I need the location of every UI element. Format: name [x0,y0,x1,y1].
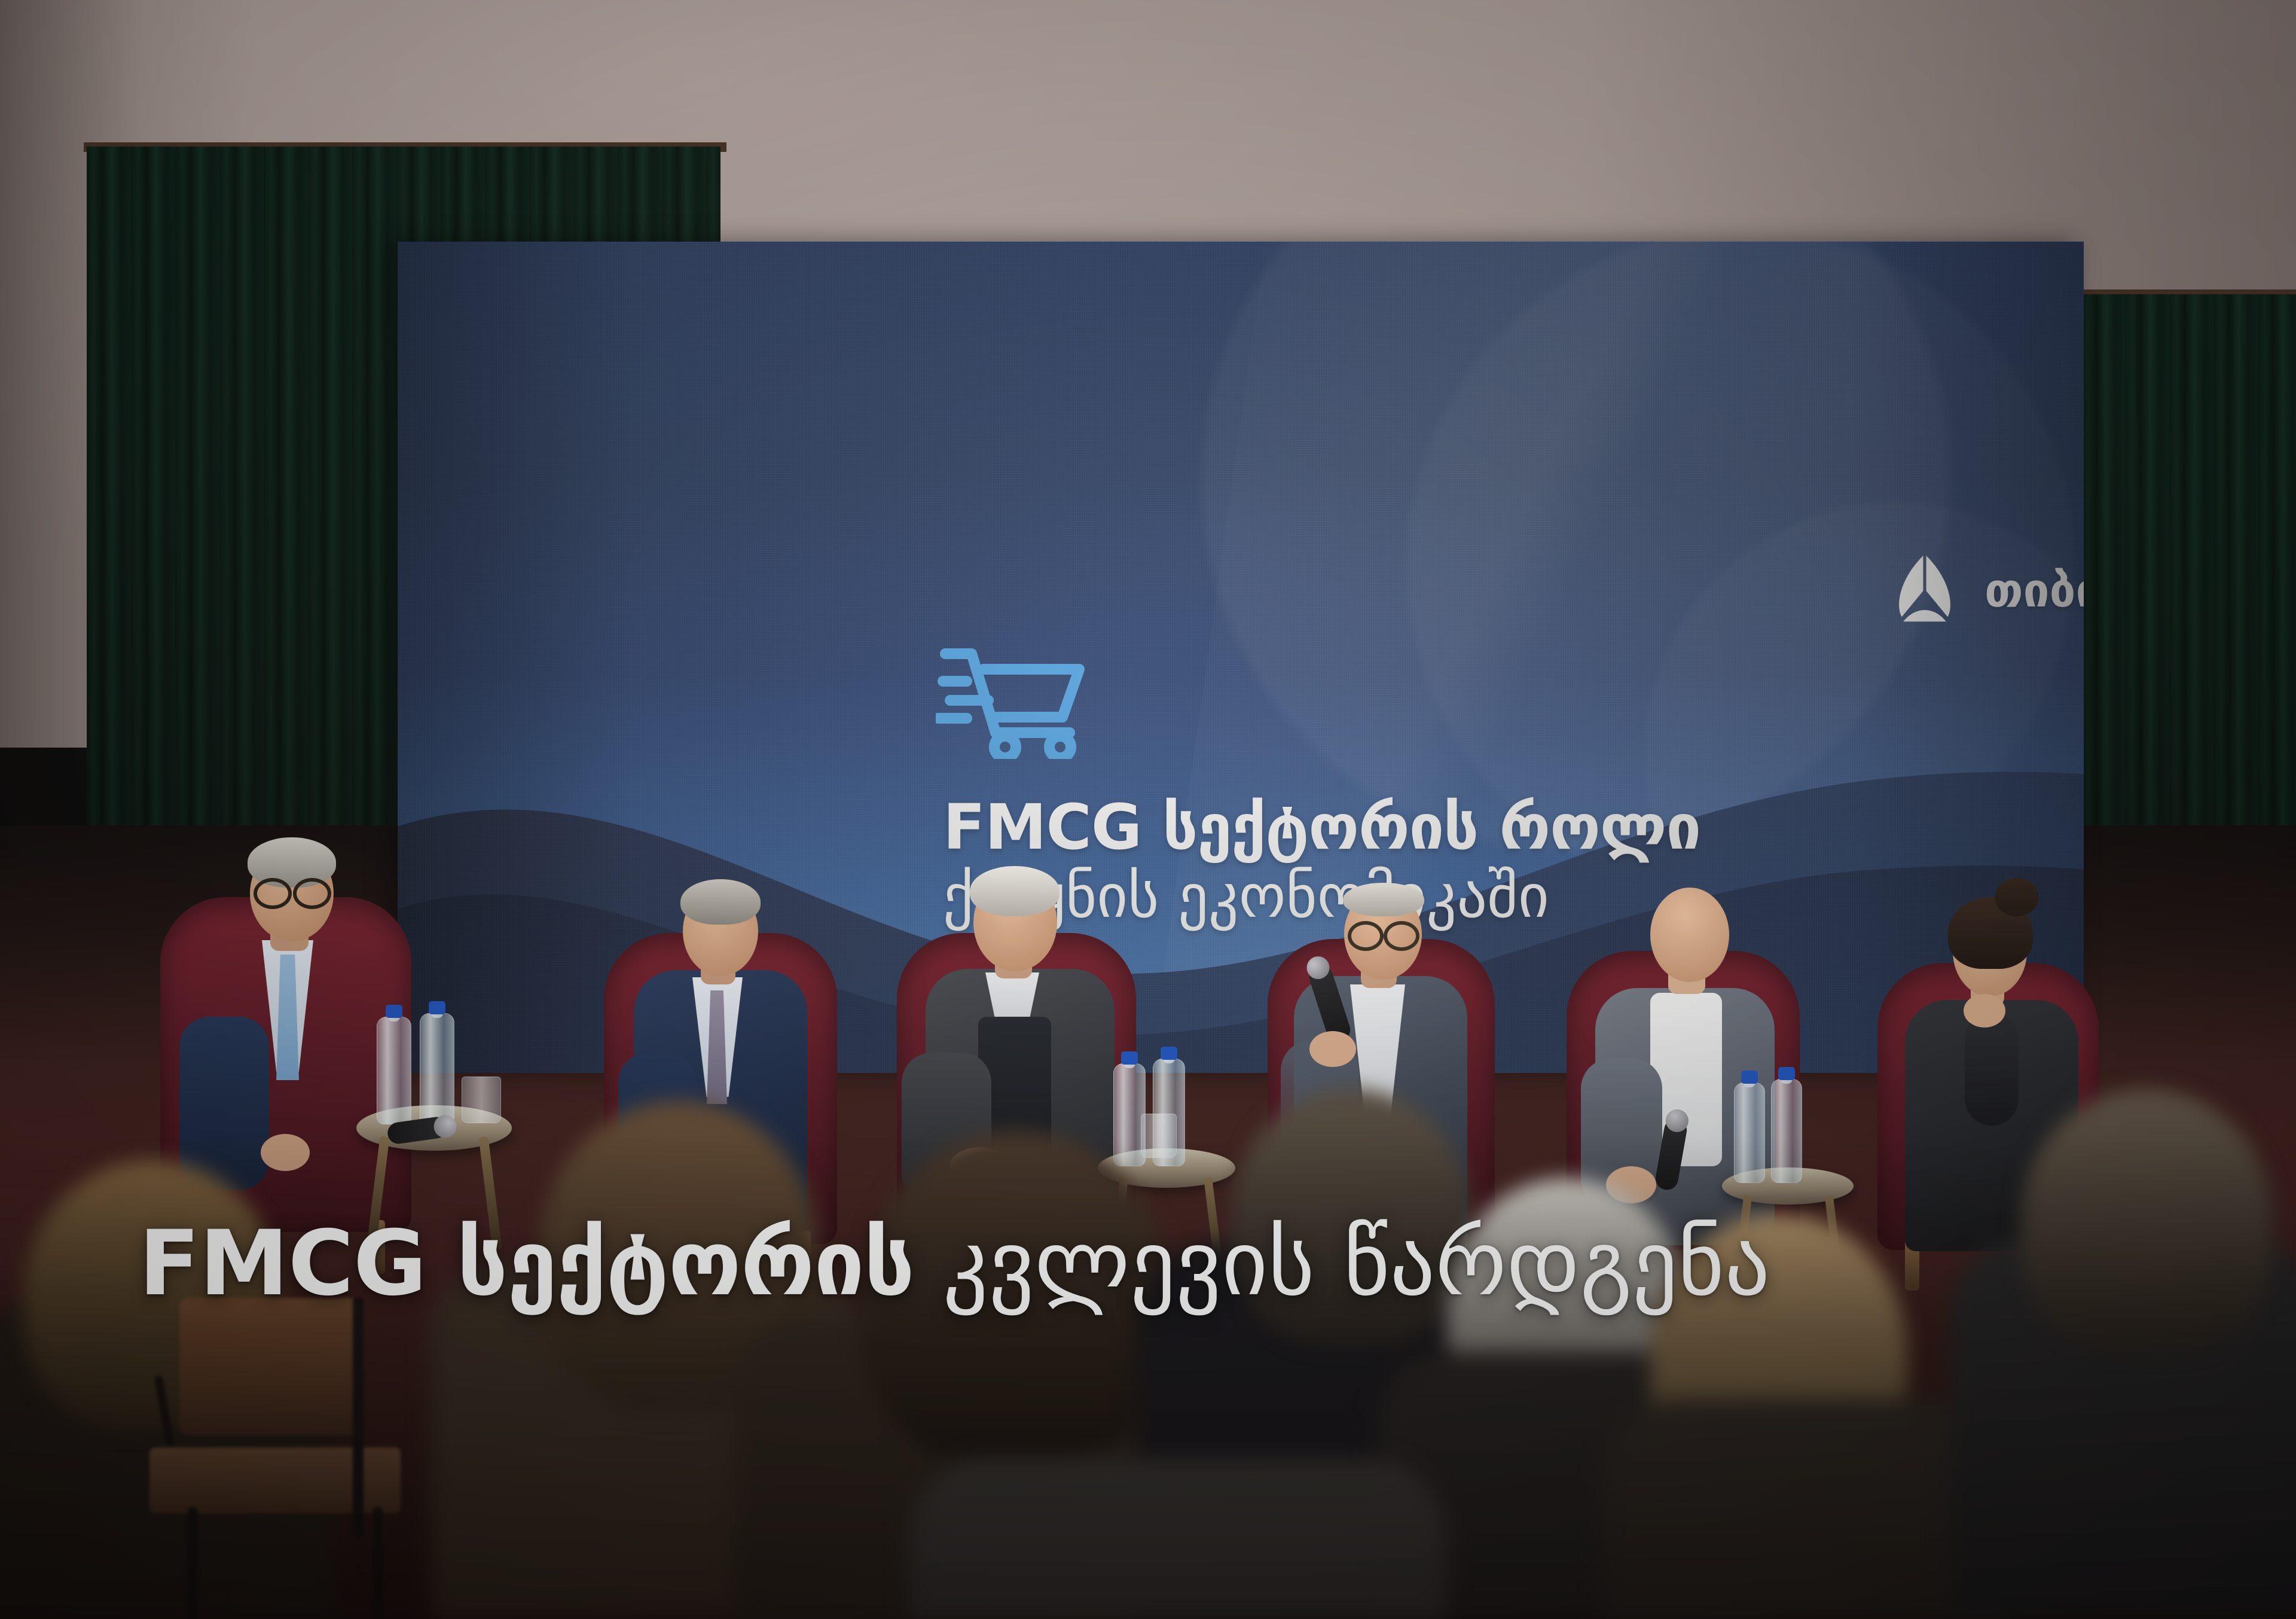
tbc-triangle-logo-icon [1886,553,1963,629]
brand-logo-text: თიბისი კაპიტალი [1984,564,2084,618]
caption-light-part: კვლევის წარდგენა [914,1212,1770,1316]
shopping-cart-icon [936,633,1091,759]
bottom-caption: FMCG სექტორის კვლევის წარდგენა [139,1219,1770,1309]
banner-title: FMCG სექტორის როლი [943,795,1700,860]
screenshot-root: FMCG სექტორის როლი ქვეყნის ეკონომიკაში თ… [0,0,2296,1619]
caption-bold-part: FMCG სექტორის [139,1212,914,1316]
brand-logo: თიბისი კაპიტალი [1886,553,2084,629]
